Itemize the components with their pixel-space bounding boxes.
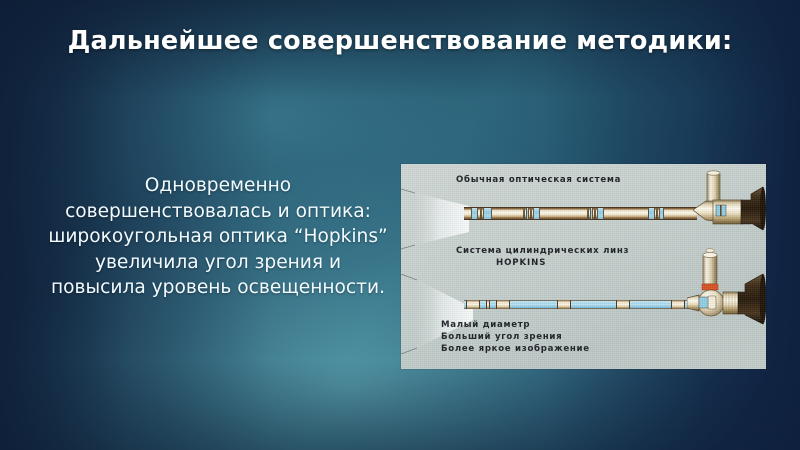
caption-benefit-brightness: Более яркое изображение bbox=[441, 344, 590, 354]
scope-upper-shaft bbox=[464, 207, 697, 220]
slide-canvas: Дальнейшее совершенствование методики: О… bbox=[0, 0, 800, 450]
scope-lower-shaft bbox=[464, 300, 699, 309]
eyepiece-lower bbox=[687, 248, 766, 330]
caption-hopkins-line1: Система цилиндрических линз bbox=[456, 246, 629, 256]
caption-benefit-angle: Больший угол зрения bbox=[441, 332, 562, 342]
page-title: Дальнейшее совершенствование методики: bbox=[0, 26, 800, 56]
caption-conventional-system: Обычная оптическая система bbox=[456, 175, 621, 185]
caption-benefit-diameter: Малый диаметр bbox=[441, 320, 530, 330]
caption-hopkins-line2: HOPKINS bbox=[496, 258, 546, 268]
light-cone-narrow-icon bbox=[401, 188, 471, 250]
endoscope-comparison-figure: Обычная оптическая система Система цилин… bbox=[401, 164, 766, 369]
eyepiece-upper bbox=[693, 170, 766, 236]
light-cone-wide-icon bbox=[401, 274, 475, 354]
body-paragraph: Одновременно совершенствовалась и оптика… bbox=[48, 173, 388, 301]
